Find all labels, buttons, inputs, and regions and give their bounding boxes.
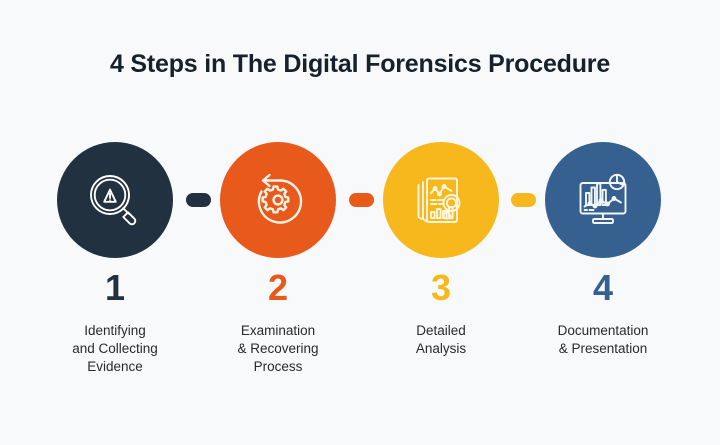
step-number-3: 3: [356, 268, 526, 308]
gear-recovery-icon: [247, 169, 309, 231]
step-caption-3: Detailed Analysis: [356, 322, 526, 358]
step-column-3: 3 Detailed Analysis: [356, 268, 526, 358]
infographic-canvas: 4 Steps in The Digital Forensics Procedu…: [0, 0, 720, 445]
step-caption-4: Documentation & Presentation: [518, 322, 688, 358]
connector-2-3: [349, 193, 374, 207]
step-caption-2: Examination & Recovering Process: [193, 322, 363, 376]
step-number-4: 4: [518, 268, 688, 308]
step-circle-4[interactable]: [545, 142, 661, 258]
connector-3-4: [511, 193, 536, 207]
step-circle-3[interactable]: [383, 142, 499, 258]
monitor-report-icon: [572, 169, 634, 231]
page-title: 4 Steps in The Digital Forensics Procedu…: [0, 50, 720, 79]
step-circle-2[interactable]: [220, 142, 336, 258]
step-circle-1[interactable]: [57, 142, 173, 258]
step-caption-1: Identifying and Collecting Evidence: [30, 322, 200, 376]
step-number-1: 1: [30, 268, 200, 308]
steps-row: [0, 142, 720, 262]
connector-1-2: [186, 193, 211, 207]
document-analysis-icon: [410, 169, 472, 231]
step-column-4: 4 Documentation & Presentation: [518, 268, 688, 358]
step-number-2: 2: [193, 268, 363, 308]
magnifier-warning-icon: [84, 169, 146, 231]
step-column-2: 2 Examination & Recovering Process: [193, 268, 363, 376]
step-column-1: 1 Identifying and Collecting Evidence: [30, 268, 200, 376]
